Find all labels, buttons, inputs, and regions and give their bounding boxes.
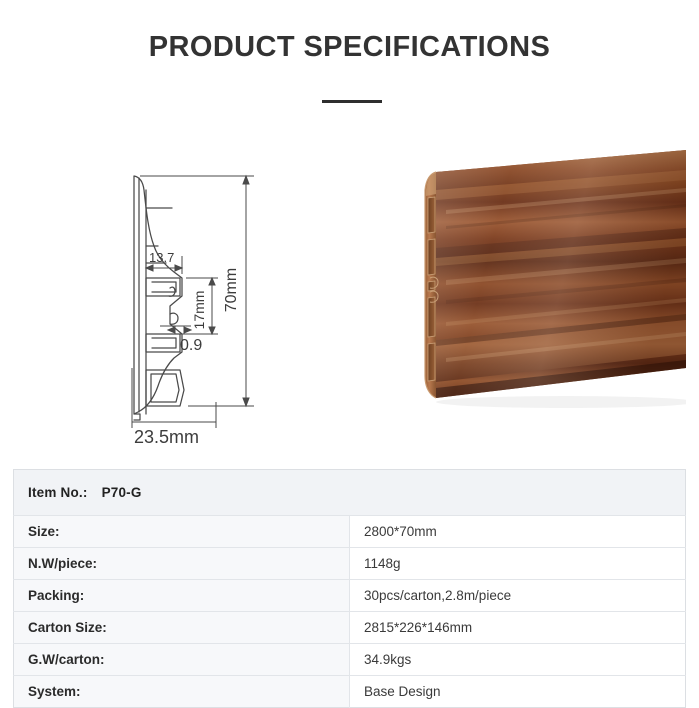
row-value-packing: 30pcs/carton,2.8m/piece <box>350 580 686 612</box>
profile-cross-section-drawing: 13.7 17mm 0.9 <box>96 138 296 448</box>
table-row: G.W/carton: 34.9kgs <box>14 644 686 676</box>
table-body: Item No.:P70-G Size: 2800*70mm N.W/piece… <box>14 470 686 708</box>
skirting-board-photo <box>386 140 686 430</box>
item-no-label: Item No.: <box>28 485 88 500</box>
media-band: 13.7 17mm 0.9 <box>0 120 699 460</box>
title-divider-rule <box>322 100 382 103</box>
item-no-value: P70-G <box>102 485 142 500</box>
row-label-nw-piece: N.W/piece: <box>14 548 350 580</box>
row-value-size: 2800*70mm <box>350 516 686 548</box>
dimension-label-13-7: 13.7 <box>149 250 174 265</box>
row-value-nw-piece: 1148g <box>350 548 686 580</box>
table-header-row: Item No.:P70-G <box>14 470 686 516</box>
dimension-label-23-5mm: 23.5mm <box>134 427 199 447</box>
table-row: Carton Size: 2815*226*146mm <box>14 612 686 644</box>
row-label-size: Size: <box>14 516 350 548</box>
table-row: N.W/piece: 1148g <box>14 548 686 580</box>
product-specification-table: Item No.:P70-G Size: 2800*70mm N.W/piece… <box>13 469 686 708</box>
dimension-label-0-9: 0.9 <box>180 337 202 354</box>
page-title: PRODUCT SPECIFICATIONS <box>0 31 699 64</box>
dimension-label-17mm: 17mm <box>191 291 207 330</box>
row-value-gw-carton: 34.9kgs <box>350 644 686 676</box>
item-no-header-cell: Item No.:P70-G <box>14 470 686 516</box>
table-row: Packing: 30pcs/carton,2.8m/piece <box>14 580 686 612</box>
row-label-gw-carton: G.W/carton: <box>14 644 350 676</box>
row-label-carton-size: Carton Size: <box>14 612 350 644</box>
dimension-label-70mm: 70mm <box>223 268 240 312</box>
table-row: Size: 2800*70mm <box>14 516 686 548</box>
row-value-carton-size: 2815*226*146mm <box>350 612 686 644</box>
row-label-packing: Packing: <box>14 580 350 612</box>
